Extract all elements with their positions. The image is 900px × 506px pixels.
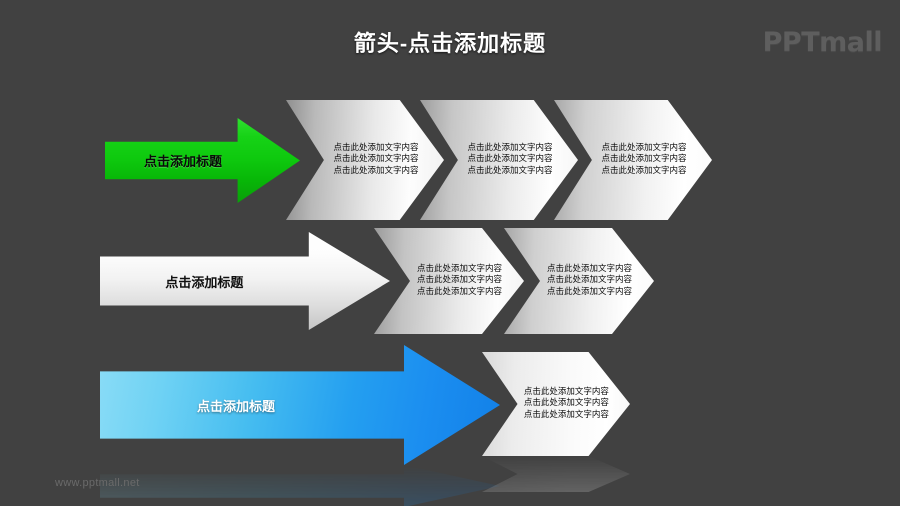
main-arrow-label: 点击添加标题 [165, 272, 243, 291]
chevron-text-line: 点击此处添加文字内容 [329, 154, 424, 166]
chevron-text-line: 点击此处添加文字内容 [522, 387, 611, 399]
chevron-segment[interactable]: 点击此处添加文字内容 点击此处添加文字内容 点击此处添加文字内容 [374, 228, 524, 334]
chevron-text: 点击此处添加文字内容 点击此处添加文字内容 点击此处添加文字内容 [463, 143, 558, 178]
chevron-text-line: 点击此处添加文字内容 [545, 264, 635, 276]
chevron-text: 点击此处添加文字内容 点击此处添加文字内容 点击此处添加文字内容 [545, 264, 635, 299]
chevron-text-line: 点击此处添加文字内容 [522, 410, 611, 422]
chevron-text-line: 点击此处添加文字内容 [597, 166, 692, 178]
main-arrow-label: 点击添加标题 [144, 151, 222, 170]
chevron-reflection [482, 456, 630, 492]
chevron-text-line: 点击此处添加文字内容 [415, 275, 505, 287]
arrow-reflection [100, 465, 500, 506]
chevron-text-line: 点击此处添加文字内容 [415, 287, 505, 299]
chevron-text-line: 点击此处添加文字内容 [522, 398, 611, 410]
chevron-segment[interactable]: 点击此处添加文字内容 点击此处添加文字内容 点击此处添加文字内容 [504, 228, 654, 334]
chevron-text: 点击此处添加文字内容 点击此处添加文字内容 点击此处添加文字内容 [597, 143, 692, 178]
chevron-text-line: 点击此处添加文字内容 [545, 287, 635, 299]
chevron-segment[interactable]: 点击此处添加文字内容 点击此处添加文字内容 点击此处添加文字内容 [482, 352, 630, 456]
pptmall-logo: PPTmall [763, 27, 882, 58]
chevron-text: 点击此处添加文字内容 点击此处添加文字内容 点击此处添加文字内容 [415, 264, 505, 299]
chevron-text-line: 点击此处添加文字内容 [415, 264, 505, 276]
chevron-segment[interactable]: 点击此处添加文字内容 点击此处添加文字内容 点击此处添加文字内容 [286, 100, 444, 220]
chevron-text: 点击此处添加文字内容 点击此处添加文字内容 点击此处添加文字内容 [329, 143, 424, 178]
chevron-text-line: 点击此处添加文字内容 [329, 166, 424, 178]
chevron-text: 点击此处添加文字内容 点击此处添加文字内容 点击此处添加文字内容 [522, 387, 611, 422]
chevron-text-line: 点击此处添加文字内容 [545, 275, 635, 287]
footer-url: www.pptmall.net [55, 477, 140, 489]
main-arrow-blue[interactable]: 点击添加标题 [100, 345, 500, 465]
slide-canvas: 箭头-点击添加标题 PPTmall 点击此处添加文字内容 点击此处添加文字内容 … [0, 0, 900, 506]
chevron-text-line: 点击此处添加文字内容 [597, 143, 692, 155]
chevron-text-line: 点击此处添加文字内容 [597, 154, 692, 166]
chevron-text-line: 点击此处添加文字内容 [463, 143, 558, 155]
main-arrow-green[interactable]: 点击添加标题 [105, 118, 300, 203]
main-arrow-label: 点击添加标题 [197, 396, 275, 415]
chevron-text-line: 点击此处添加文字内容 [463, 166, 558, 178]
chevron-text-line: 点击此处添加文字内容 [463, 154, 558, 166]
chevron-text-line: 点击此处添加文字内容 [329, 143, 424, 155]
main-arrow-white[interactable]: 点击添加标题 [100, 232, 390, 330]
